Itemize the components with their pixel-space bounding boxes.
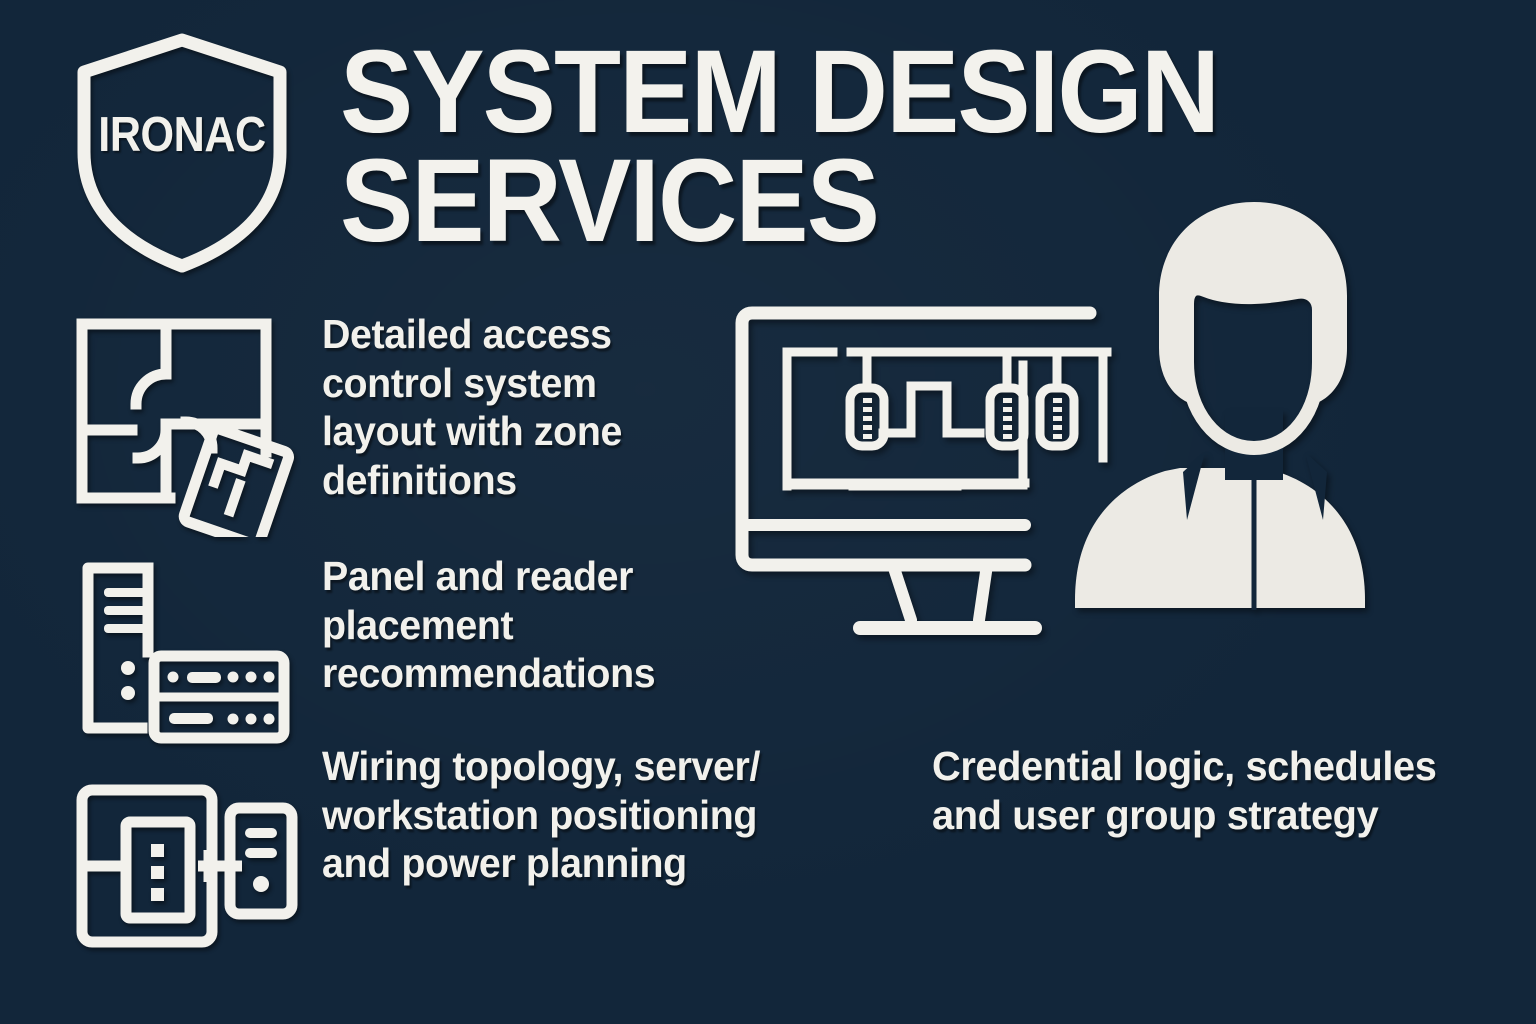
page-title-line-1: SYSTEM DESIGN (340, 38, 1261, 147)
feature-label-panel-reader: Panel and reader placement recommendatio… (322, 552, 725, 698)
card-reader-icon (850, 388, 884, 446)
poster-canvas: IRONAC SYSTEM DESIGN SERVICES (0, 0, 1536, 1024)
feature-label-wiring-topology: Wiring topology, server/ workstation pos… (322, 742, 840, 888)
feature-item-wiring-topology: Wiring topology, server/ workstation pos… (70, 742, 862, 959)
desktop-monitor-icon (742, 313, 1090, 628)
feature-item-floor-plan: Detailed access control system layout wi… (70, 310, 722, 537)
server-tower-rack-icon (70, 560, 302, 745)
brand-shield-icon (74, 32, 290, 274)
wiring-panel-server-icon (70, 774, 302, 959)
hero-caption: Credential logic, schedules and user gro… (932, 742, 1475, 840)
consultant-avatar-icon (1075, 202, 1365, 610)
feature-item-panel-reader: Panel and reader placement recommendatio… (70, 552, 742, 745)
feature-label-floor-plan: Detailed access control system layout wi… (322, 310, 706, 504)
floor-plan-blueprint-icon (70, 312, 302, 537)
hero-illustration (735, 180, 1465, 690)
card-reader-icon (1040, 388, 1074, 446)
